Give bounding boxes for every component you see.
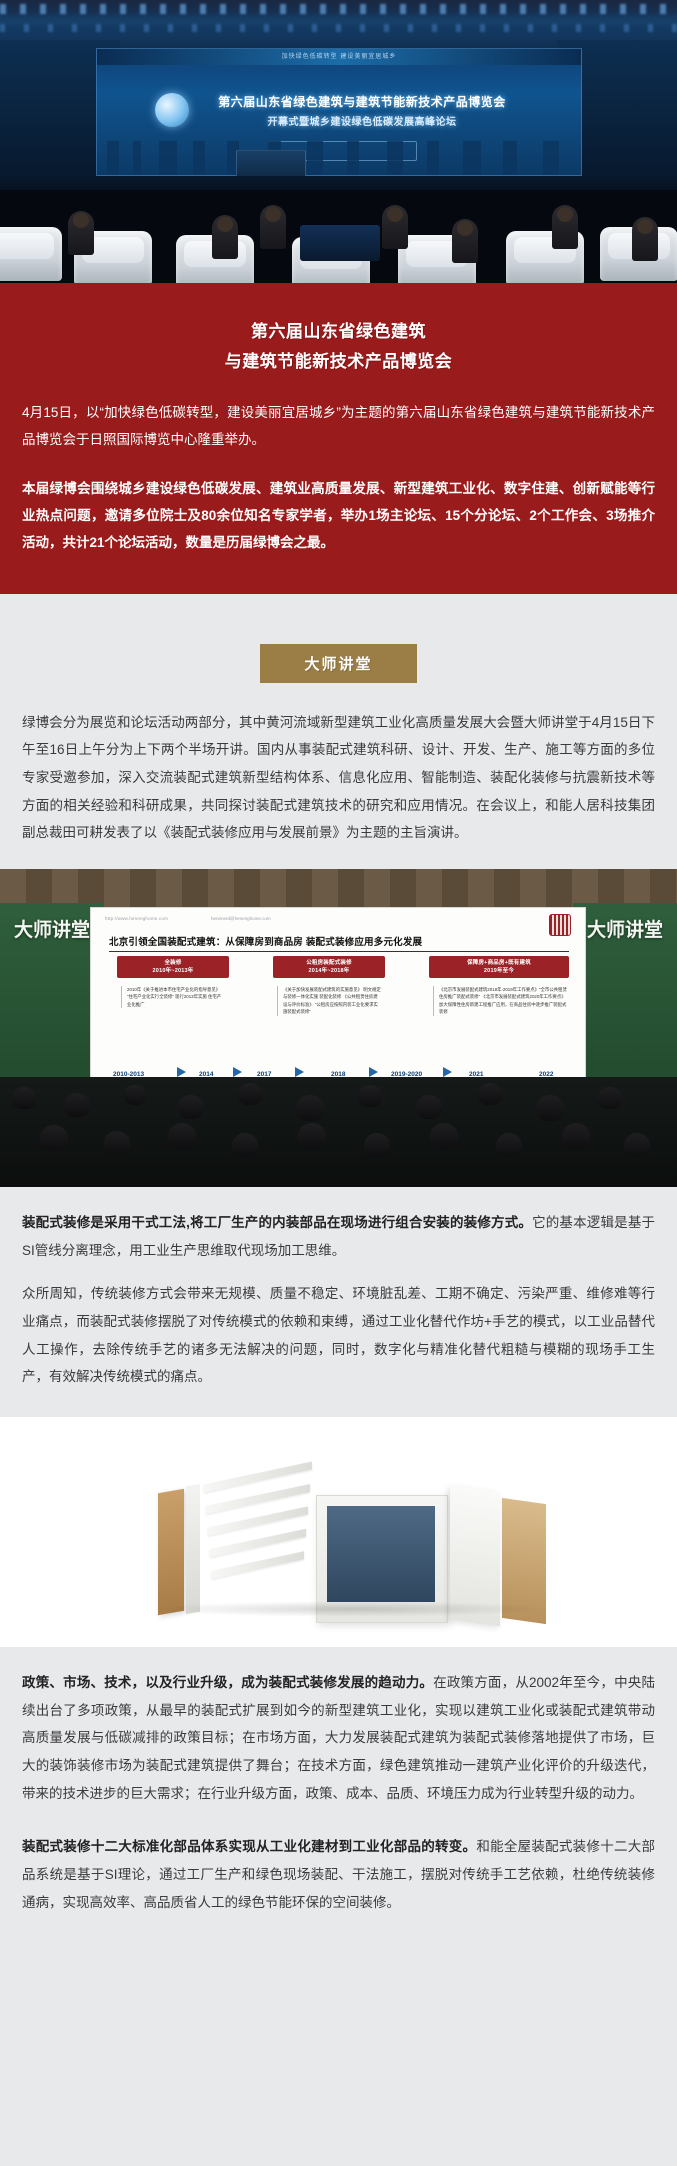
article-page: 加快绿色低碳转型 建设美丽宜居城乡 第六届山东省绿色建筑与建筑节能新技术产品博览… xyxy=(0,0,677,2166)
side-text-left: 大师讲堂 xyxy=(0,917,104,945)
master-lecture-badge: 大师讲堂 xyxy=(260,644,416,683)
white-frame-panel xyxy=(186,1484,200,1614)
chip1-line2: 2010年~2013年 xyxy=(121,967,225,975)
side-text-right: 大师讲堂 xyxy=(573,917,677,945)
prefab-paragraph-2: 众所周知，传统装修方式会带来无规模、质量不稳定、环境脏乱差、工期不确定、污染严重… xyxy=(22,1280,655,1391)
slide-column-1: 2010年《关于推进本市住宅产业化的指导意见》 “住宅产业化实行全装修” 现行2… xyxy=(121,986,225,1008)
drivers-paragraph-rest: 在政策方面，从2002年至今，中央陆续出台了多项政策，从最早的装配式扩展到如今的… xyxy=(22,1675,655,1801)
drivers-section: 政策、市场、技术，以及行业升级，成为装配式装修发展的趋动力。在政策方面，从200… xyxy=(0,1647,677,1960)
banner-title-line2: 与建筑节能新技术产品博览会 xyxy=(22,347,655,377)
parts-paragraph-lead: 装配式装修十二大标准化部品体系实现从工业化建材到工业化部品的转变。 xyxy=(22,1839,476,1854)
screen-title-line2: 开幕式暨城乡建设绿色低碳发展高峰论坛 xyxy=(197,113,527,128)
chip3-line2: 2019年至今 xyxy=(433,967,565,975)
slide-url-left: http://www.henenghome.com xyxy=(105,916,168,921)
screen-top-banner: 加快绿色低碳转型 建设美丽宜居城乡 xyxy=(97,49,581,65)
parts-paragraph: 装配式装修十二大标准化部品体系实现从工业化建材到工业化部品的转变。和能全屋装配式… xyxy=(22,1833,655,1916)
chip3-line1: 保障房+商品房+既有建筑 xyxy=(433,959,565,967)
prefab-paragraph-1: 装配式装修是采用干式工法,将工厂生产的内装部品在现场进行组合安装的装修方式。它的… xyxy=(22,1209,655,1264)
banner-title: 第六届山东省绿色建筑 与建筑节能新技术产品博览会 xyxy=(22,317,655,377)
master-lecture-section: 大师讲堂 绿博会分为展览和论坛活动两部分，其中黄河流域新型建筑工业化高质量发展大… xyxy=(0,594,677,869)
hero-conference-photo: 加快绿色低碳转型 建设美丽宜居城乡 第六届山东省绿色建筑与建筑节能新技术产品博览… xyxy=(0,0,677,283)
slide-phase-chip-1: 全装修 2010年~2013年 xyxy=(117,956,229,979)
banner-title-line1: 第六届山东省绿色建筑 xyxy=(22,317,655,347)
screen-skyline-graphic xyxy=(97,141,581,175)
banner-paragraph-2: 本届绿博会围绕城乡建设绿色低碳发展、建筑业高质量发展、新型建筑工业化、数字住建、… xyxy=(22,475,655,556)
conference-table xyxy=(300,225,380,261)
render-stage xyxy=(120,1439,560,1625)
green-side-panel-left: 大师讲堂 xyxy=(0,903,104,1083)
master-lecture-paragraph: 绿博会分为展览和论坛活动两部分，其中黄河流域新型建筑工业化高质量发展大会暨大师讲… xyxy=(22,709,655,847)
green-side-panel-right: 大师讲堂 xyxy=(573,903,677,1083)
chip1-line1: 全装修 xyxy=(121,959,225,967)
master-lecture-badge-wrap: 大师讲堂 xyxy=(22,638,655,683)
slide-column-2: 《关于加快发展装配式建筑的实施意见》 明文规定与装修一体化实施 装配化装修 《公… xyxy=(277,986,381,1016)
stage-led-screen: 加快绿色低碳转型 建设美丽宜居城乡 第六届山东省绿色建筑与建筑节能新技术产品博览… xyxy=(96,48,582,176)
module-interior xyxy=(327,1506,435,1602)
company-seal-icon xyxy=(549,914,571,936)
wood-frame-panel xyxy=(158,1489,184,1616)
render-shadow xyxy=(150,1601,550,1617)
prefab-paragraph-1-lead: 装配式装修是采用干式工法,将工厂生产的内装部品在现场进行组合安装的装修方式。 xyxy=(22,1215,532,1230)
screen-top-banner-text: 加快绿色低碳转型 建设美丽宜居城乡 xyxy=(97,49,581,65)
drivers-paragraph: 政策、市场、技术，以及行业升级，成为装配式装修发展的趋动力。在政策方面，从200… xyxy=(22,1669,655,1807)
screen-title-line1: 第六届山东省绿色建筑与建筑节能新技术产品博览会 xyxy=(197,93,527,110)
slide-phase-chip-2: 公租房装配式装修 2014年~2018年 xyxy=(273,956,385,979)
event-emblem-icon xyxy=(155,93,189,127)
seated-audience xyxy=(0,1077,677,1187)
chip2-line2: 2014年~2018年 xyxy=(277,967,381,975)
presentation-slide: http://www.henenghome.com henenerd@henen… xyxy=(90,907,586,1083)
slide-column-3: 《北京市发展装配式建筑2018年-2019年工作要点》“全市公共租赁住房推广装配… xyxy=(433,986,567,1016)
red-intro-banner: 第六届山东省绿色建筑 与建筑节能新技术产品博览会 4月15日，以“加快绿色低碳转… xyxy=(0,283,677,594)
slide-phase-chip-3: 保障房+商品房+既有建筑 2019年至今 xyxy=(429,956,569,979)
product-render-photo xyxy=(0,1417,677,1647)
slide-title: 北京引领全国装配式建筑：从保障房到商品房 装配式装修应用多元化发展 xyxy=(109,934,569,952)
audience-area xyxy=(0,190,677,283)
chip2-line1: 公租房装配式装修 xyxy=(277,959,381,967)
prefab-section: 装配式装修是采用干式工法,将工厂生产的内装部品在现场进行组合安装的装修方式。它的… xyxy=(0,1187,677,1417)
banner-paragraph-1: 4月15日，以“加快绿色低碳转型，建设美丽宜居城乡”为主题的第六届山东省绿色建筑… xyxy=(22,399,655,453)
slide-url-right: henenerd@henenghome.com xyxy=(211,916,271,921)
lecture-hall-photo: 大师讲堂 大师讲堂 http://www.henenghome.com hene… xyxy=(0,869,677,1187)
drivers-paragraph-lead: 政策、市场、技术，以及行业升级，成为装配式装修发展的趋动力。 xyxy=(22,1675,433,1690)
